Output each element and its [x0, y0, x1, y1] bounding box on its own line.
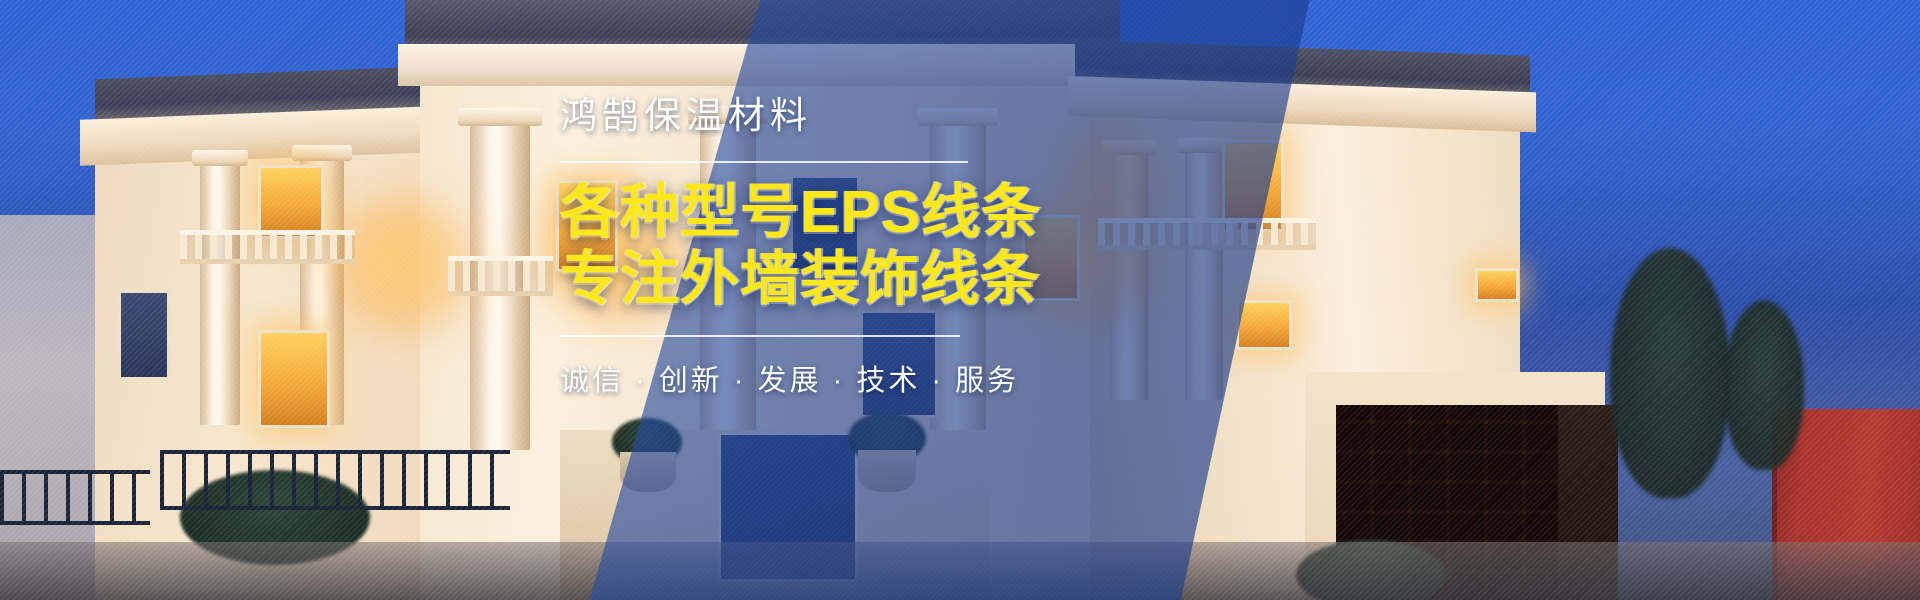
balustrade — [180, 230, 355, 264]
column — [1185, 148, 1223, 400]
window — [1236, 300, 1292, 350]
window — [118, 290, 170, 380]
column-capital — [292, 145, 352, 161]
divider-bottom — [560, 335, 960, 337]
planter — [620, 452, 676, 492]
tree — [1610, 248, 1730, 498]
mansion-center-cornice — [398, 44, 1126, 86]
window — [258, 165, 324, 239]
brand-name: 鸿鹄保温材料 — [560, 96, 1000, 137]
iron-fence — [160, 450, 510, 510]
headline-line-2: 专注外墙装饰线条 — [560, 246, 1000, 313]
column — [200, 160, 240, 425]
column-capital — [192, 150, 248, 166]
planter — [858, 450, 916, 492]
tagline: 诚信 · 创新 · 发展 · 技术 · 服务 — [560, 357, 1000, 399]
window — [1475, 268, 1519, 302]
column-capital — [458, 108, 542, 126]
iron-fence — [0, 470, 150, 525]
balustrade — [1196, 218, 1316, 250]
tree — [1724, 300, 1804, 470]
divider-top — [560, 161, 968, 163]
banner-text-block: 鸿鹄保温材料 各种型号EPS线条 专注外墙装饰线条 诚信 · 创新 · 发展 ·… — [560, 96, 1000, 399]
headline-line-1: 各种型号EPS线条 — [560, 179, 1000, 246]
promo-banner: 鸿鹄保温材料 各种型号EPS线条 专注外墙装饰线条 诚信 · 创新 · 发展 ·… — [0, 0, 1920, 600]
balustrade — [448, 256, 553, 296]
foreground-ground — [0, 542, 1920, 600]
window — [258, 330, 330, 428]
